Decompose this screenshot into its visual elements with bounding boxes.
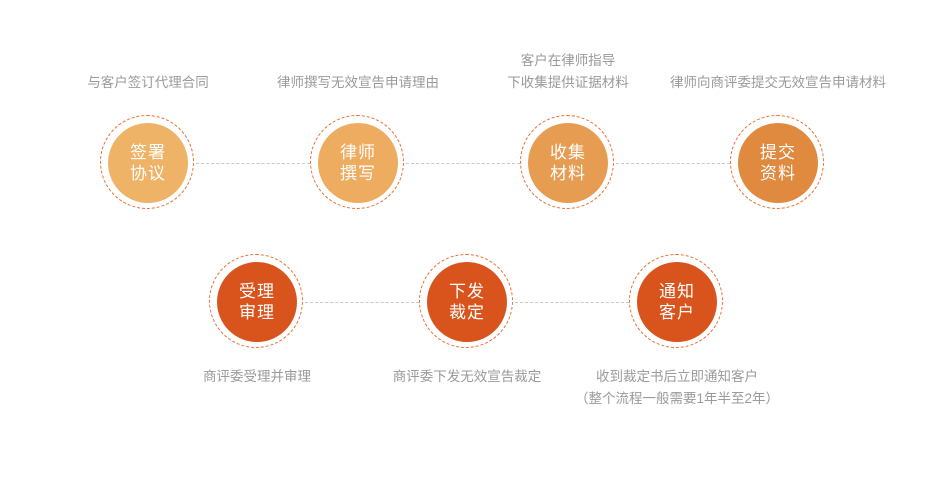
flowchart-canvas: 与客户签订代理合同 律师撰写无效宣告申请理由 客户在律师指导 下收集提供证据材料… xyxy=(0,0,925,494)
node-submit-documents[interactable]: 提交 资料 xyxy=(730,115,826,211)
node-disc: 收集 材料 xyxy=(528,123,608,203)
node-label-line: 律师 xyxy=(340,142,376,163)
node-disc: 通知 客户 xyxy=(637,262,717,342)
connector-bottom-2-3 xyxy=(515,302,629,303)
node-disc: 签署 协议 xyxy=(108,123,188,203)
caption-sign-agreement: 与客户签订代理合同 xyxy=(48,72,248,94)
caption-line: 与客户签订代理合同 xyxy=(48,72,248,94)
node-label-line: 签署 xyxy=(130,142,166,163)
node-label-line: 提交 xyxy=(760,142,796,163)
node-disc: 受理 审理 xyxy=(217,262,297,342)
node-label-line: 受理 xyxy=(239,281,275,302)
connector-top-1-2 xyxy=(196,163,310,164)
node-label-line: 客户 xyxy=(659,302,695,323)
connector-bottom-1-2 xyxy=(305,302,419,303)
node-label-line: 协议 xyxy=(130,163,166,184)
caption-line: 收到裁定书后立即通知客户 xyxy=(537,366,817,388)
caption-accept-review: 商评委受理并审理 xyxy=(157,366,357,388)
node-label-line: 资料 xyxy=(760,163,796,184)
caption-line: （整个流程一般需要1年半至2年） xyxy=(537,388,817,410)
caption-line: 客户在律师指导 xyxy=(448,50,688,72)
caption-submit-documents: 律师向商评委提交无效宣告申请材料 xyxy=(618,72,925,94)
caption-line: 律师向商评委提交无效宣告申请材料 xyxy=(618,72,925,94)
connector-top-2-3 xyxy=(406,163,520,164)
node-label-line: 下发 xyxy=(449,281,485,302)
caption-line: 商评委受理并审理 xyxy=(157,366,357,388)
node-label-line: 撰写 xyxy=(340,163,376,184)
node-issue-ruling[interactable]: 下发 裁定 xyxy=(419,254,515,350)
node-disc: 提交 资料 xyxy=(738,123,818,203)
node-label-line: 通知 xyxy=(659,281,695,302)
node-label-line: 裁定 xyxy=(449,302,485,323)
node-disc: 律师 撰写 xyxy=(318,123,398,203)
caption-notify-client: 收到裁定书后立即通知客户 （整个流程一般需要1年半至2年） xyxy=(537,366,817,410)
node-collect-materials[interactable]: 收集 材料 xyxy=(520,115,616,211)
node-notify-client[interactable]: 通知 客户 xyxy=(629,254,725,350)
caption-lawyer-drafting: 律师撰写无效宣告申请理由 xyxy=(238,72,478,94)
node-label-line: 材料 xyxy=(550,163,586,184)
node-label-line: 审理 xyxy=(239,302,275,323)
connector-top-3-4 xyxy=(616,163,730,164)
caption-line: 律师撰写无效宣告申请理由 xyxy=(238,72,478,94)
node-lawyer-drafting[interactable]: 律师 撰写 xyxy=(310,115,406,211)
node-sign-agreement[interactable]: 签署 协议 xyxy=(100,115,196,211)
node-accept-review[interactable]: 受理 审理 xyxy=(209,254,305,350)
node-label-line: 收集 xyxy=(550,142,586,163)
node-disc: 下发 裁定 xyxy=(427,262,507,342)
